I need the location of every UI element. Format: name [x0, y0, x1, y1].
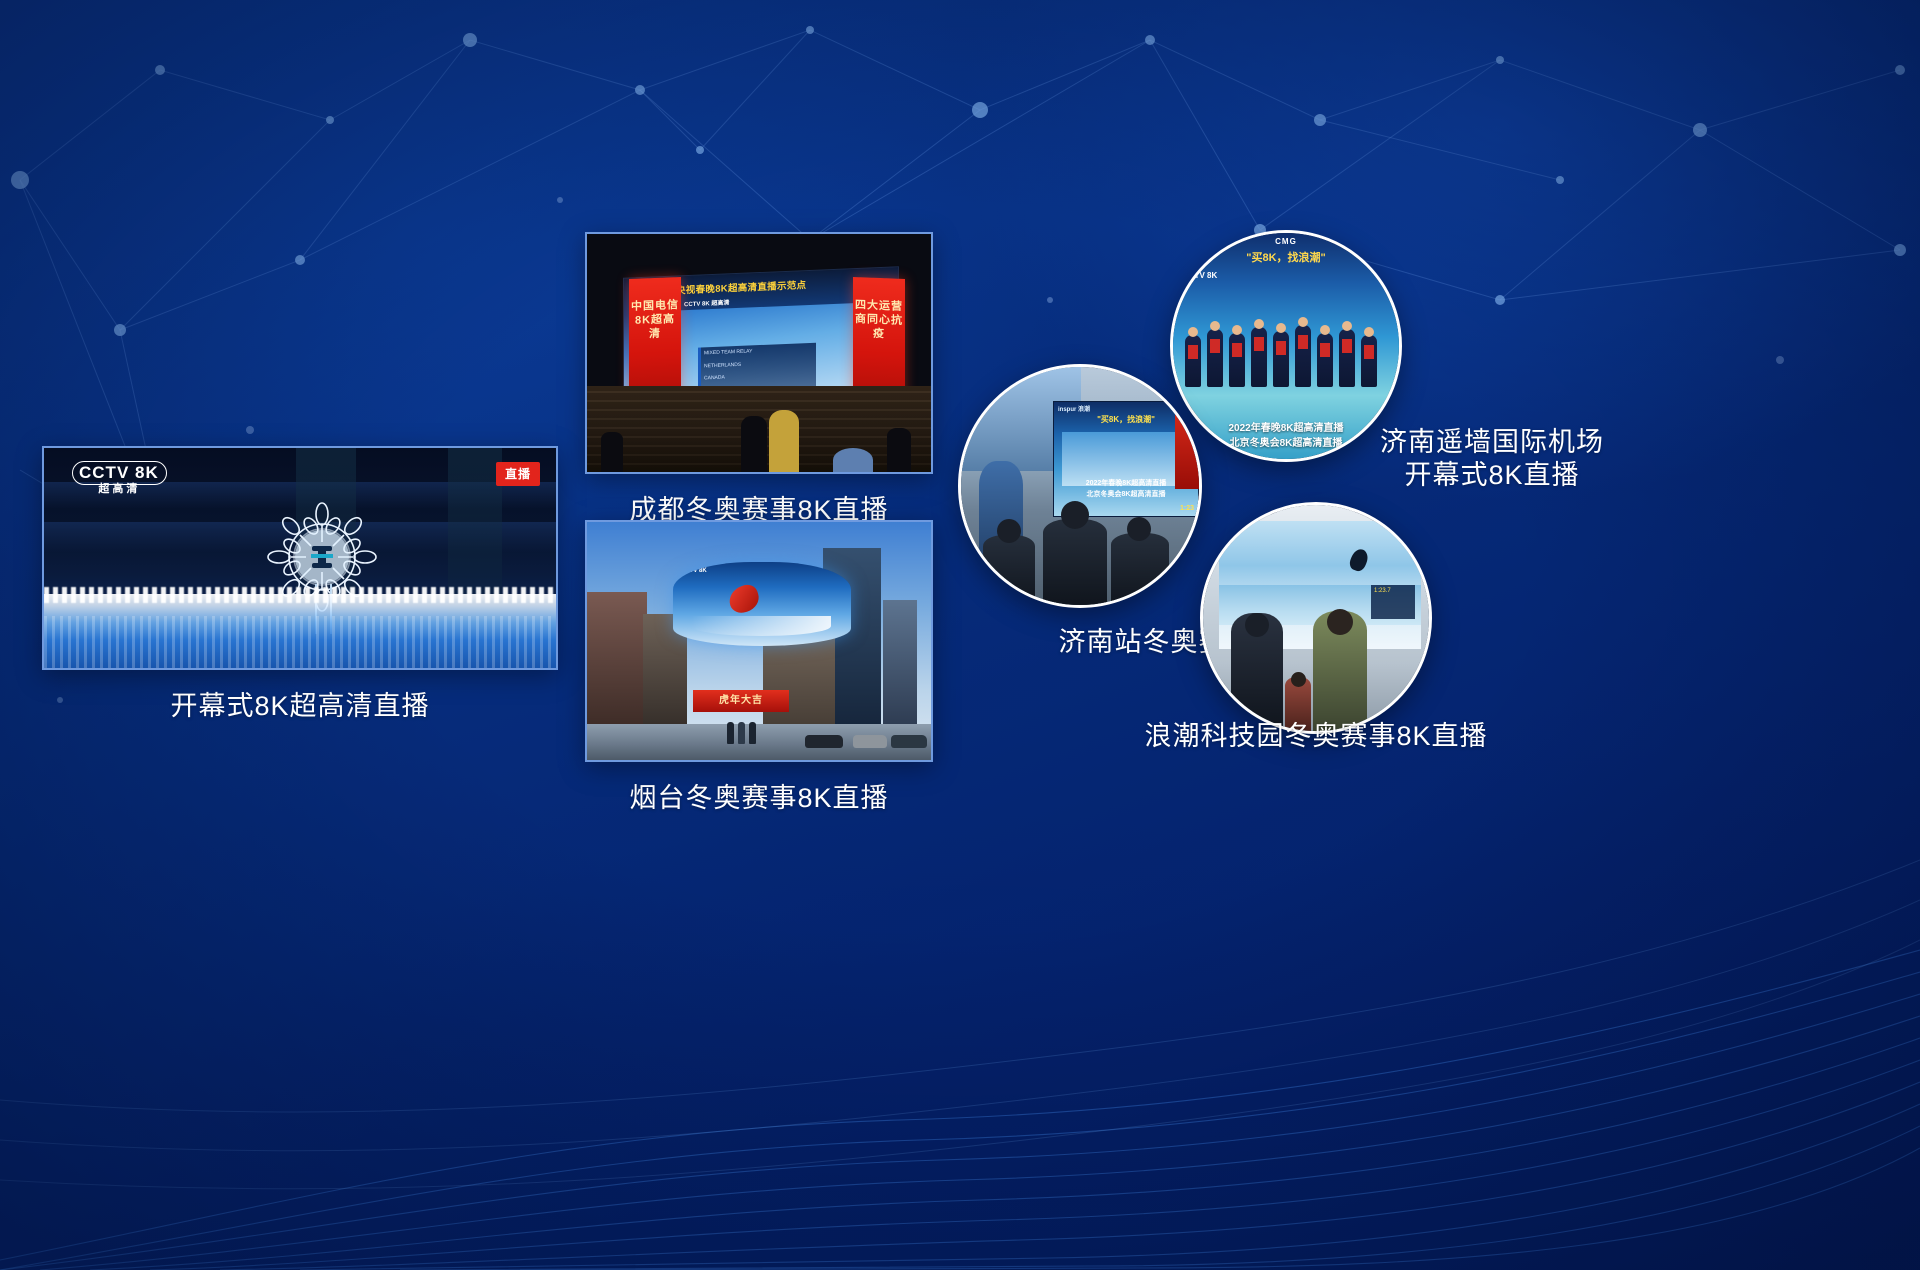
speed-skater-figure	[726, 582, 763, 616]
viewer-head	[1245, 613, 1269, 637]
viewer-head	[1127, 517, 1151, 541]
cctv8k-logo-text: CCTV 8K	[72, 461, 167, 485]
speed-skater-figure	[1347, 547, 1370, 573]
viewer-head	[997, 519, 1021, 543]
figure-yantai[interactable]: CCTV 8K 虎年大吉 烟台冬奥赛事8K直播	[585, 520, 933, 815]
figure-gallery: CCTV 8K 超高清 直播 开幕式8K超高清直播 CCTV 8K 超高清 央视…	[0, 0, 1920, 1270]
pedestrian	[738, 722, 745, 744]
figure-chengdu[interactable]: CCTV 8K 超高清 央视春晚8K超高清直播示范点 MIXED TEAM RE…	[585, 232, 933, 527]
athlete-delegation-row	[1173, 295, 1399, 387]
cctv8k-watermark: CCTV 8K 超高清	[72, 464, 167, 495]
spectator-silhouette	[741, 416, 767, 472]
photo-yantai[interactable]: CCTV 8K 虎年大吉	[585, 520, 933, 762]
parked-car	[853, 735, 887, 748]
child-head	[1291, 672, 1306, 687]
photo-jinan-station[interactable]: "买8K，找浪潮" inspur 浪潮 2022年春晚8K超高清直播 北京冬奥会…	[958, 364, 1202, 608]
screen-bottom-line2: 北京冬奥会8K超高清直播	[1054, 490, 1198, 501]
pedestrian	[727, 722, 734, 744]
figure-inspur-park[interactable]: CCTV 8K 1:23.7 浪潮科技园冬奥赛事8K直播	[1200, 502, 1432, 734]
live-badge: 直播	[496, 462, 540, 486]
pedestrian	[749, 722, 756, 744]
spectator-silhouette	[887, 428, 911, 472]
spectator-silhouette	[769, 410, 799, 472]
race-time-readout: 1:23	[1180, 505, 1194, 512]
cctv8k-screen-logo: CCTV 8K	[1387, 525, 1413, 531]
inspur-brand-text: inspur 浪潮	[1058, 404, 1090, 413]
curved-led-screen: CCTV 8K	[673, 562, 851, 646]
spectator-silhouette	[601, 432, 623, 472]
cctv8k-screen-logo: CCTV 8K	[1183, 271, 1217, 280]
viewer-silhouette	[983, 535, 1035, 605]
cmg-logo-text: CMG	[1173, 237, 1399, 246]
caption-jinan-airport-line2: 开幕式8K直播	[1342, 459, 1642, 492]
slogan-text: "买8K，找浪潮"	[1173, 249, 1399, 265]
caption-inspur-park: 浪潮科技园冬奥赛事8K直播	[1116, 720, 1516, 753]
figure-opening-ceremony[interactable]: CCTV 8K 超高清 直播 开幕式8K超高清直播	[42, 446, 558, 723]
race-hud: 1:23.7	[1371, 585, 1415, 619]
umbrella-silhouette	[833, 448, 873, 472]
performer-crowd	[44, 594, 556, 668]
scoreboard: MIXED TEAM RELAY NETHERLANDS CANADA	[698, 343, 816, 392]
viewer-silhouette	[1043, 519, 1107, 605]
figure-jinan-station[interactable]: "买8K，找浪潮" inspur 浪潮 2022年春晚8K超高清直播 北京冬奥会…	[958, 364, 1202, 608]
caption-jinan-airport-line1: 济南遥墙国际机场	[1342, 426, 1642, 459]
office-building	[883, 600, 917, 726]
parked-car	[805, 735, 843, 748]
viewer-silhouette	[1111, 533, 1169, 605]
cctv8k-logo-subtext: 超高清	[72, 484, 167, 495]
viewer-head	[1061, 501, 1089, 529]
street-banner-sign: 虎年大吉	[693, 690, 789, 712]
led-screen-logo: CCTV 8K	[681, 568, 707, 574]
caption-jinan-airport: 济南遥墙国际机场 开幕式8K直播	[1342, 426, 1642, 492]
caption-yantai: 烟台冬奥赛事8K直播	[585, 782, 933, 815]
parked-car	[891, 735, 927, 748]
cctv8k-screen-logo: CCTV 8K 超高清	[684, 300, 729, 308]
skater-ice-trail	[691, 616, 831, 636]
viewer-head	[1327, 609, 1353, 635]
photo-inspur-park[interactable]: CCTV 8K 1:23.7	[1200, 502, 1432, 734]
red-vertical-banner	[1175, 393, 1201, 489]
mall-building-left	[587, 592, 647, 726]
screen-headline: 央视春晚8K超高清直播示范点	[676, 277, 806, 296]
race-time-readout: 1:23.7	[1371, 585, 1415, 599]
speed-skating-broadcast	[1062, 432, 1190, 486]
photo-chengdu[interactable]: CCTV 8K 超高清 央视春晚8K超高清直播示范点 MIXED TEAM RE…	[585, 232, 933, 474]
figure-jinan-airport[interactable]: CMG "买8K，找浪潮" CCTV 8K 2022年春晚8K超高清直播 北京冬…	[1170, 230, 1402, 462]
caption-opening-ceremony: 开幕式8K超高清直播	[42, 690, 558, 723]
photo-opening-ceremony[interactable]: CCTV 8K 超高清 直播	[42, 446, 558, 670]
